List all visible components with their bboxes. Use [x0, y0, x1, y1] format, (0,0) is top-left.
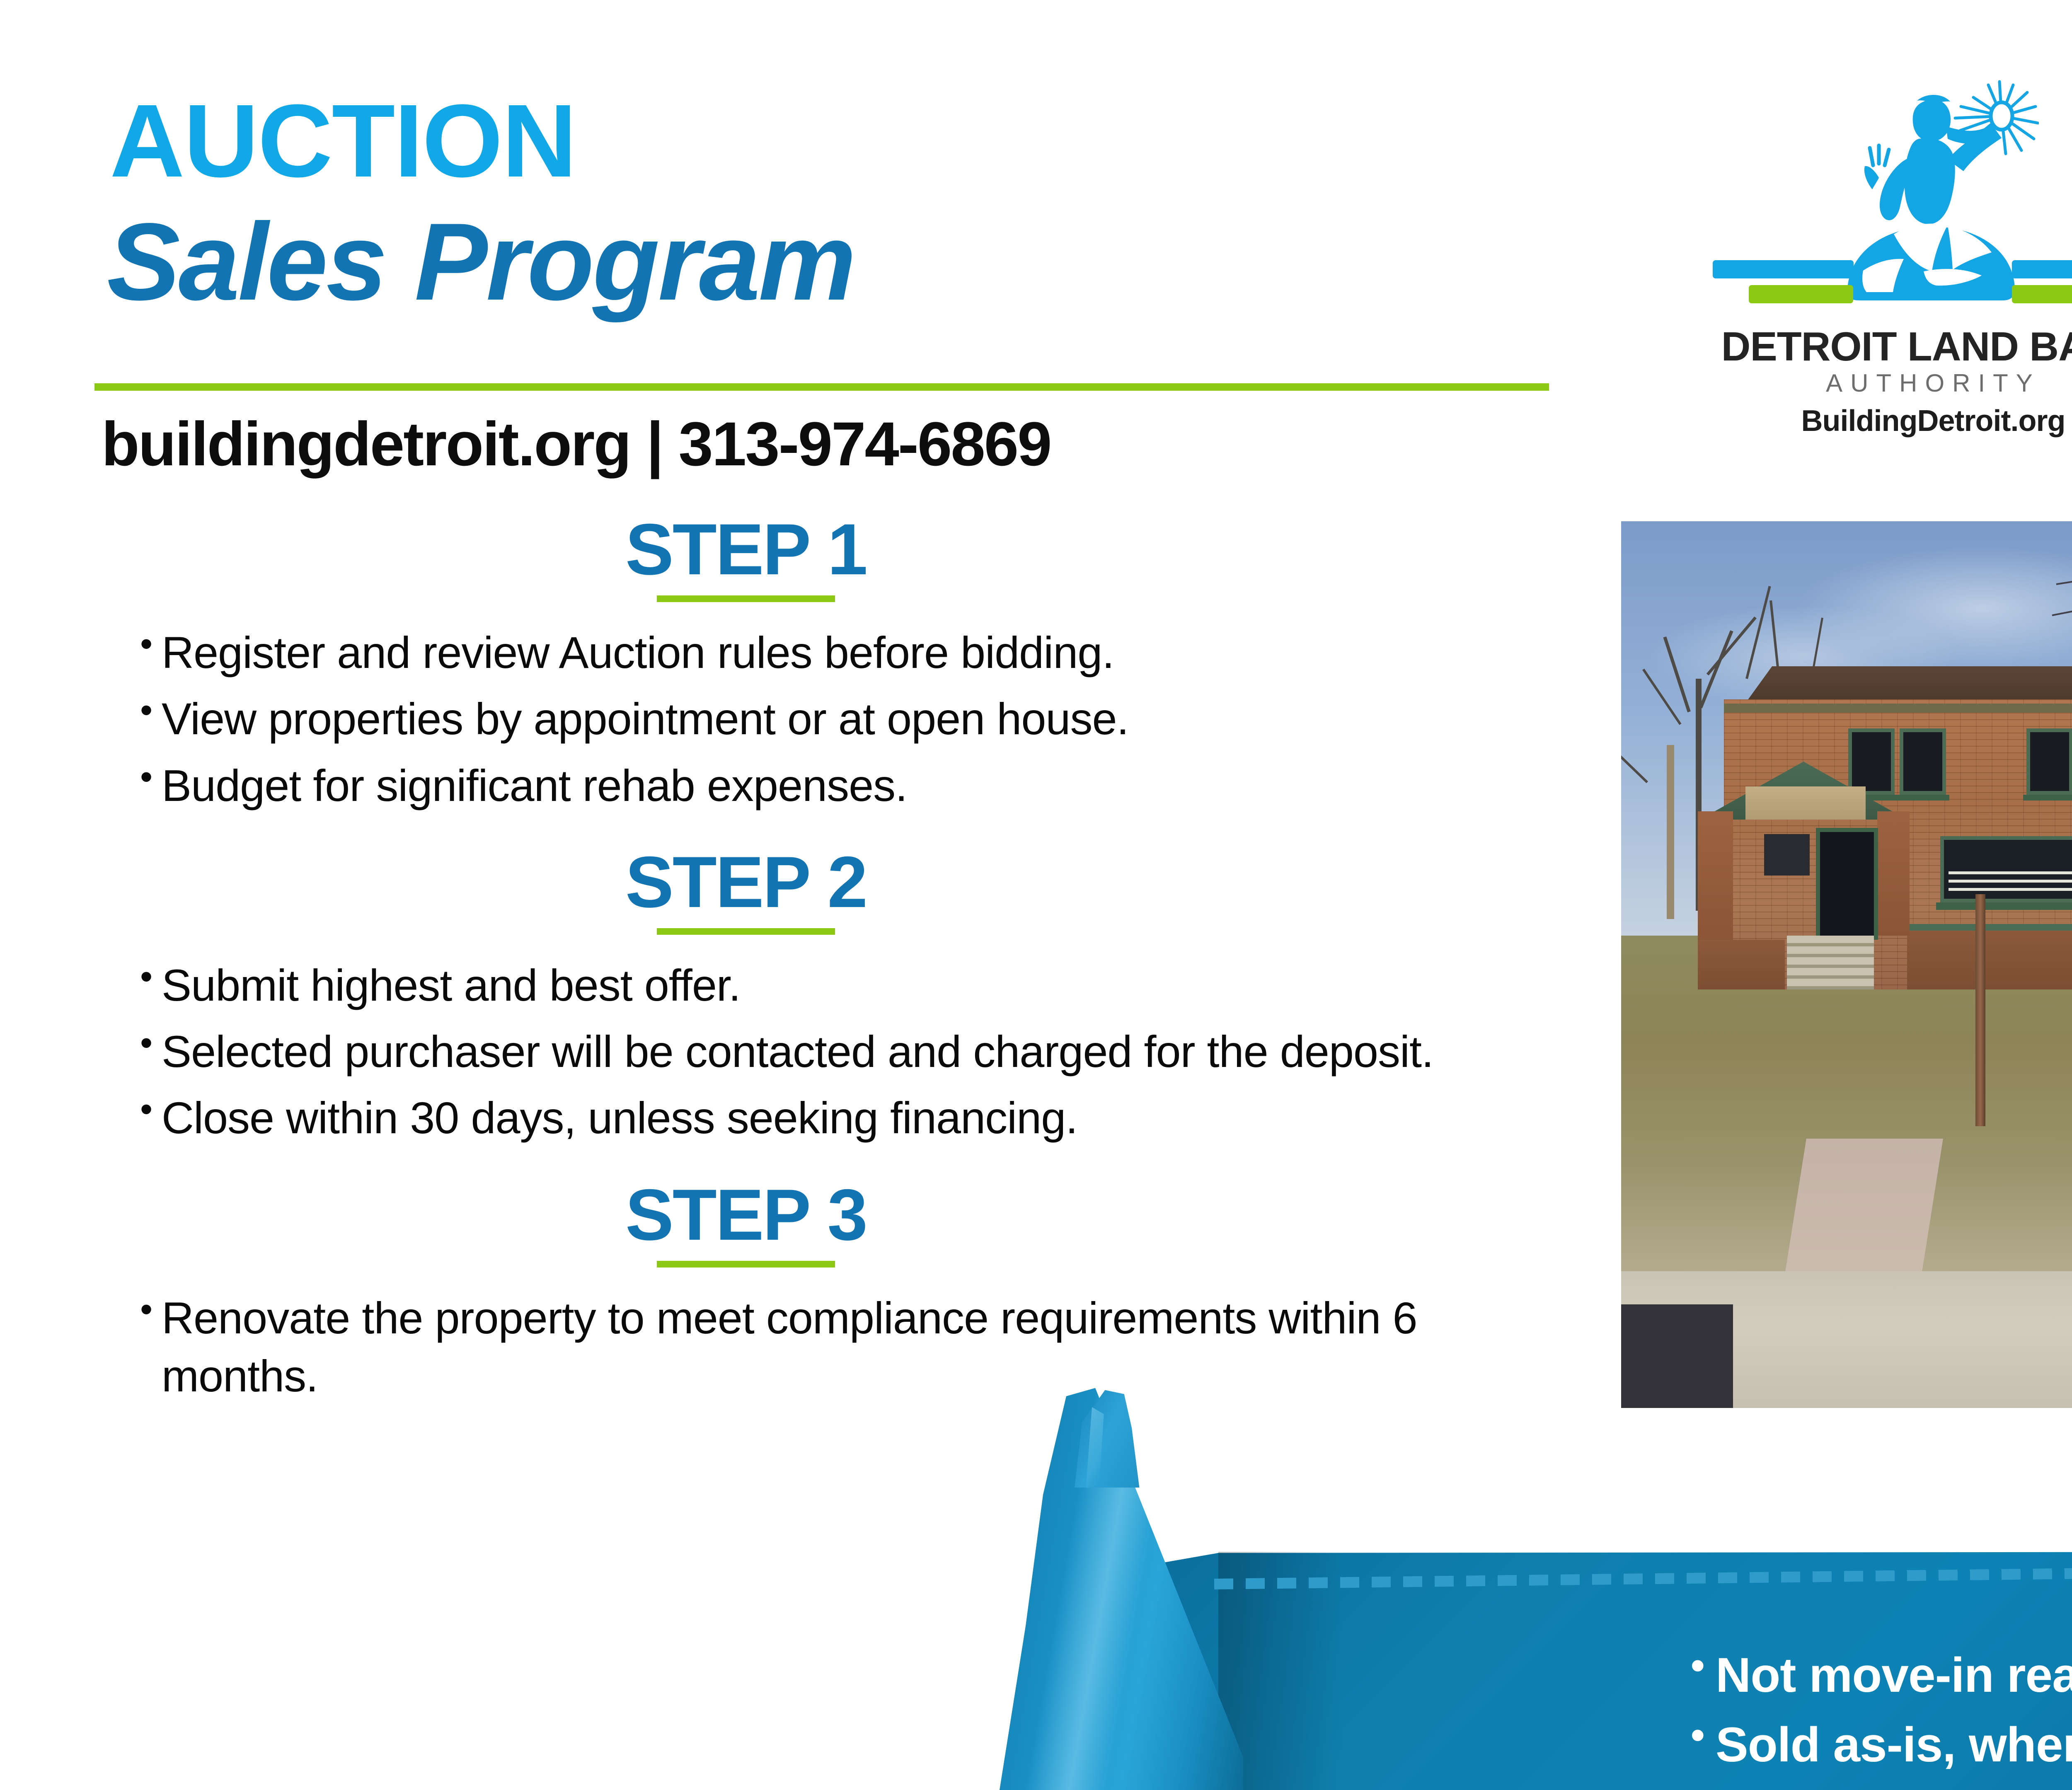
step-block-2: STEP 2 Submit highest and best offer. Se…: [0, 844, 1492, 1147]
list-item: View properties by appointment or at ope…: [162, 690, 1492, 748]
step-block-3: STEP 3 Renovate the property to meet com…: [0, 1177, 1492, 1405]
step-block-1: STEP 1 Register and review Auction rules…: [0, 512, 1492, 815]
photo-utility-pole: [1667, 745, 1674, 919]
list-item: Not move-in ready: [1691, 1641, 2072, 1710]
photo-concrete-steps: [1787, 936, 1874, 989]
photo-foundation-wall: [1907, 927, 2072, 989]
photo-front-door: [1816, 828, 1878, 940]
photo-corner-shadow: [1621, 1304, 1733, 1408]
step-1-title: STEP 1: [625, 512, 867, 588]
step-2-title: STEP 2: [625, 844, 867, 921]
logo-bar-blue-left: [1713, 260, 1854, 278]
step-2-heading: STEP 2: [0, 844, 1492, 935]
photo-roof-fascia: [1724, 704, 2072, 713]
steps-content: STEP 1 Register and review Auction rules…: [0, 512, 1492, 1413]
photo-window-blinds: [1949, 871, 2072, 896]
step-2-underline: [657, 928, 835, 935]
logo-bar-group: [1680, 255, 2072, 311]
list-item: Renovate the property to meet compliance…: [162, 1289, 1492, 1405]
page-title-auction: AUCTION: [110, 89, 576, 193]
list-item: Sold as-is, where-is: [1691, 1710, 2072, 1780]
contact-line[interactable]: buildingdetroit.org | 313-974-6869: [102, 408, 1051, 480]
list-item: Register and review Auction rules before…: [162, 624, 1492, 682]
photo-window: [1848, 728, 1895, 795]
step-1-underline: [657, 595, 835, 602]
step-3-underline: [657, 1261, 835, 1268]
photo-porch-stone-gable: [1745, 786, 1866, 820]
property-photo: [1621, 521, 2072, 1408]
page-title-sales-program: Sales Program: [107, 207, 854, 317]
logo-bar-green-right: [2012, 285, 2072, 303]
logo-url: BuildingDetroit.org: [1680, 404, 2072, 438]
detroit-land-bank-logo: DETROIT LAND BANK AUTHORITY BuildingDetr…: [1680, 77, 2072, 433]
step-1-bullet-list: Register and review Auction rules before…: [0, 624, 1492, 815]
list-item: Close within 30 days, unless seeking fin…: [162, 1089, 1492, 1147]
step-3-bullet-list: Renovate the property to meet compliance…: [0, 1289, 1492, 1405]
photo-walkway: [1784, 1139, 1943, 1280]
step-3-heading: STEP 3: [0, 1177, 1492, 1268]
photo-window-sill: [1936, 902, 2072, 910]
logo-subtitle: AUTHORITY: [1680, 369, 2072, 397]
ribbon-fold: [953, 1380, 1243, 1790]
photo-porch-window: [1764, 834, 1810, 876]
step-3-title: STEP 3: [625, 1177, 867, 1253]
photo-porch-column: [1877, 811, 1910, 936]
ribbon-dashed-stitch-line: [1214, 1564, 2072, 1589]
header: AUCTION Sales Program buildingdetroit.or…: [0, 0, 1616, 489]
header-green-rule: [94, 383, 1549, 391]
list-item: Selected purchaser will be contacted and…: [162, 1023, 1492, 1081]
photo-window: [2026, 728, 2072, 795]
photo-foundation-cap: [1907, 924, 2072, 931]
ribbon-inner-shadow: [1218, 1552, 1343, 1790]
step-1-heading: STEP 1: [0, 512, 1492, 602]
logo-bar-green-left: [1749, 285, 1853, 303]
photo-porch-low-wall: [1698, 940, 1785, 989]
ribbon-fold-highlight: [953, 1380, 1243, 1790]
logo-bar-blue-right: [2012, 260, 2072, 278]
logo-name: DETROIT LAND BANK: [1680, 323, 2072, 370]
photo-rusted-post: [1975, 894, 1985, 1126]
list-item: Budget for significant rehab expenses.: [162, 757, 1492, 815]
photo-porch-column: [1698, 811, 1733, 944]
list-item: Submit highest and best offer.: [162, 956, 1492, 1014]
banner-bullet-list: Not move-in ready Sold as-is, where-is: [1691, 1641, 2072, 1780]
photo-window-sill: [2023, 795, 2072, 801]
step-2-bullet-list: Submit highest and best offer. Selected …: [0, 956, 1492, 1147]
ribbon-tip-notch: [1081, 1407, 1118, 1494]
photo-window: [1900, 728, 1946, 795]
